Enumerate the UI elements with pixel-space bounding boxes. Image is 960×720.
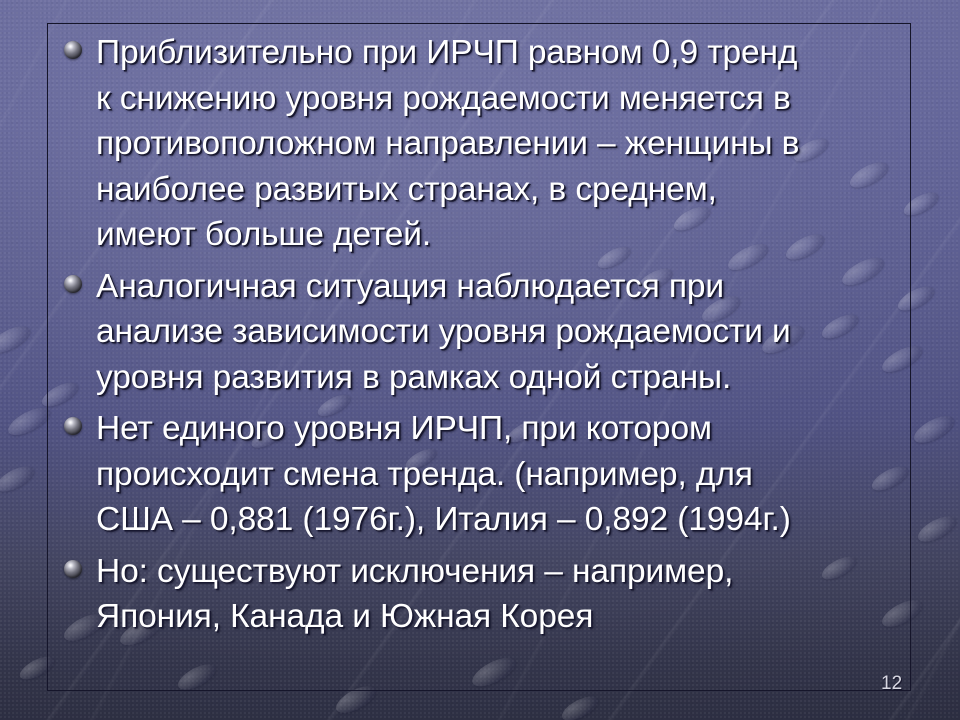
bullet-text: Приблизительно при ИРЧП равном 0,9 тренд…: [96, 30, 914, 258]
page-number: 12: [881, 673, 902, 695]
presentation-slide: Приблизительно при ИРЧП равном 0,9 тренд…: [0, 0, 960, 720]
bullet-text: Но: существуют исключения – например, Яп…: [96, 549, 914, 640]
sphere-bullet-icon: [64, 417, 82, 435]
list-item: Нет единого уровня ИРЧП, при котором про…: [58, 406, 914, 543]
bullet-text: Нет единого уровня ИРЧП, при котором про…: [96, 406, 914, 543]
list-item: Приблизительно при ИРЧП равном 0,9 тренд…: [58, 30, 914, 258]
sphere-bullet-icon: [64, 41, 82, 59]
sphere-bullet-icon: [64, 275, 82, 293]
slide-bullet-list: Приблизительно при ИРЧП равном 0,9 тренд…: [58, 30, 914, 646]
sphere-bullet-icon: [64, 560, 82, 578]
list-item: Аналогичная ситуация наблюдается при ана…: [58, 264, 914, 401]
list-item: Но: существуют исключения – например, Яп…: [58, 549, 914, 640]
bullet-text: Аналогичная ситуация наблюдается при ана…: [96, 264, 914, 401]
